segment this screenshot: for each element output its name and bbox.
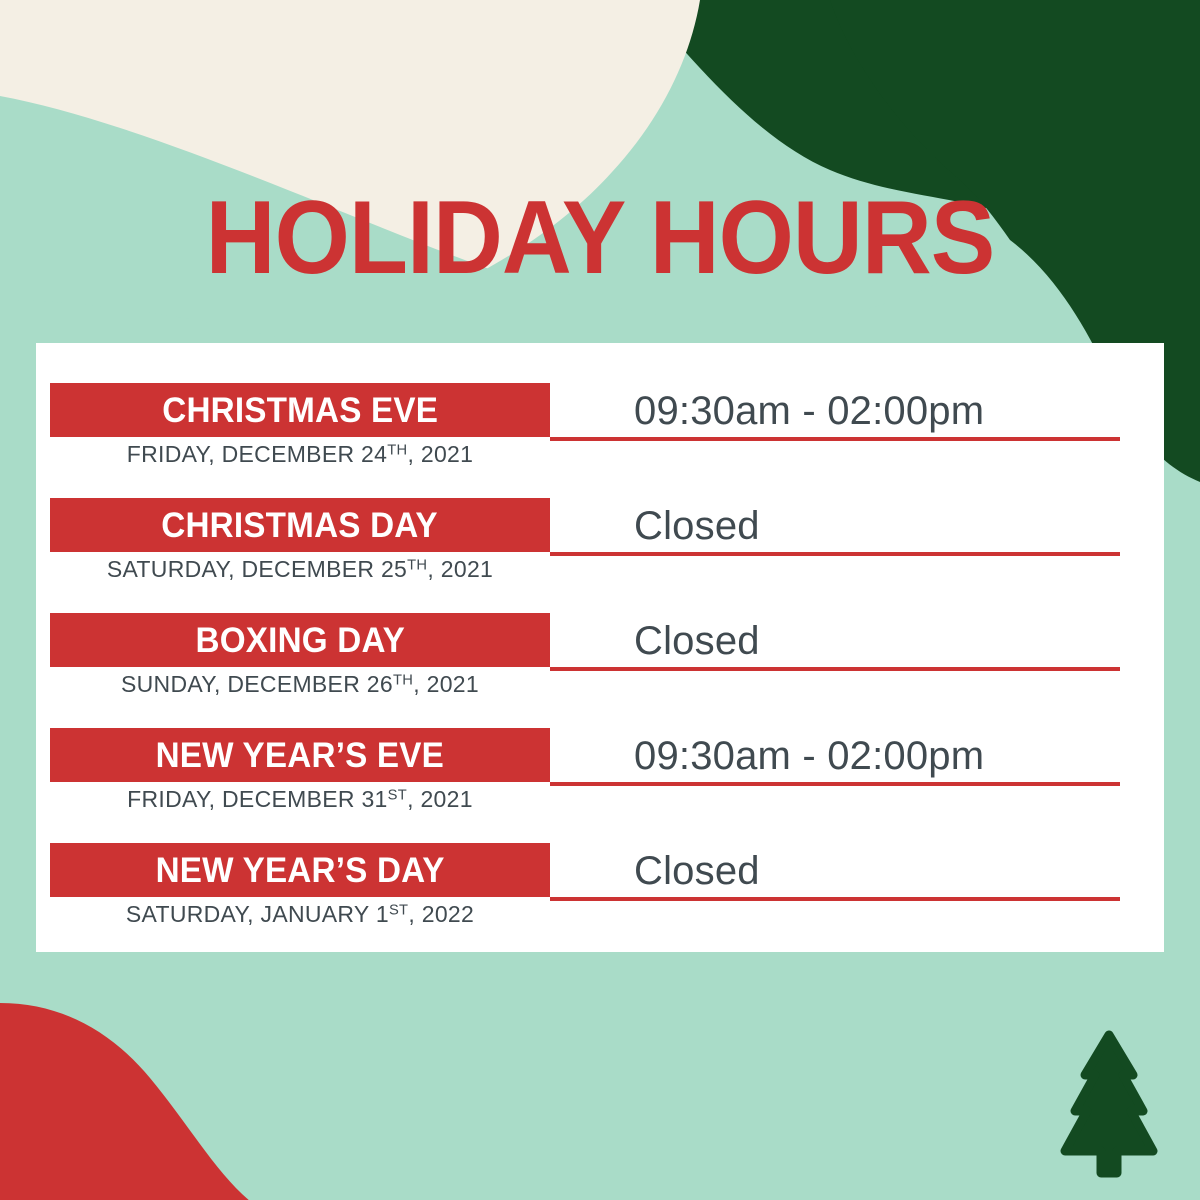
holiday-hours: 09:30am - 02:00pm (634, 734, 984, 779)
holiday-hours-cell: 09:30am - 02:00pm (550, 383, 1150, 439)
holiday-date-prefix: SUNDAY, DECEMBER 26 (121, 671, 393, 697)
holiday-hours: 09:30am - 02:00pm (634, 389, 984, 434)
row-underline (550, 782, 1120, 786)
holiday-date: SUNDAY, DECEMBER 26TH, 2021 (50, 671, 550, 698)
holiday-name-bar: BOXING DAY (50, 613, 550, 667)
christmas-tree-icon (1057, 1023, 1161, 1183)
table-row: CHRISTMAS DAY SATURDAY, DECEMBER 25TH, 2… (36, 498, 1164, 613)
holiday-date: FRIDAY, DECEMBER 24TH, 2021 (50, 441, 550, 468)
holiday-hours: Closed (634, 849, 760, 894)
holiday-date-ordinal: TH (387, 442, 407, 458)
holiday-name-bar: NEW YEAR’S EVE (50, 728, 550, 782)
holiday-hours-cell: Closed (550, 498, 1150, 554)
row-underline (550, 897, 1120, 901)
holiday-date-prefix: FRIDAY, DECEMBER 24 (127, 441, 387, 467)
holiday-date-suffix: , 2022 (408, 901, 474, 927)
holiday-name: CHRISTMAS EVE (162, 393, 438, 428)
schedule-card: CHRISTMAS EVE FRIDAY, DECEMBER 24TH, 202… (36, 343, 1164, 952)
holiday-hours: Closed (634, 619, 760, 664)
row-underline (550, 667, 1120, 671)
table-row: CHRISTMAS EVE FRIDAY, DECEMBER 24TH, 202… (36, 383, 1164, 498)
table-row: BOXING DAY SUNDAY, DECEMBER 26TH, 2021 C… (36, 613, 1164, 728)
holiday-hours-cell: Closed (550, 613, 1150, 669)
holiday-name-bar: CHRISTMAS DAY (50, 498, 550, 552)
holiday-date-prefix: SATURDAY, JANUARY 1 (126, 901, 389, 927)
holiday-hours: Closed (634, 504, 760, 549)
row-underline (550, 552, 1120, 556)
holiday-date-prefix: FRIDAY, DECEMBER 31 (127, 786, 387, 812)
holiday-date-suffix: , 2021 (413, 671, 479, 697)
holiday-name-bar: CHRISTMAS EVE (50, 383, 550, 437)
holiday-hours-poster: HOLIDAY HOURS CHRISTMAS EVE FRIDAY, DECE… (0, 0, 1200, 1200)
holiday-name: BOXING DAY (195, 623, 404, 658)
holiday-date-prefix: SATURDAY, DECEMBER 25 (107, 556, 407, 582)
holiday-date: FRIDAY, DECEMBER 31ST, 2021 (50, 786, 550, 813)
holiday-date: SATURDAY, JANUARY 1ST, 2022 (50, 901, 550, 928)
holiday-date-suffix: , 2021 (427, 556, 493, 582)
holiday-date-ordinal: ST (389, 902, 408, 918)
holiday-hours-cell: Closed (550, 843, 1150, 899)
holiday-name: NEW YEAR’S EVE (156, 738, 444, 773)
holiday-name: NEW YEAR’S DAY (155, 853, 444, 888)
holiday-date-ordinal: ST (388, 787, 407, 803)
holiday-name: CHRISTMAS DAY (162, 508, 439, 543)
holiday-name-bar: NEW YEAR’S DAY (50, 843, 550, 897)
holiday-date-suffix: , 2021 (407, 441, 473, 467)
table-row: NEW YEAR’S EVE FRIDAY, DECEMBER 31ST, 20… (36, 728, 1164, 843)
holiday-date-ordinal: TH (393, 672, 413, 688)
row-underline (550, 437, 1120, 441)
holiday-date-ordinal: TH (407, 557, 427, 573)
holiday-date-suffix: , 2021 (407, 786, 473, 812)
page-title: HOLIDAY HOURS (42, 186, 1158, 290)
holiday-hours-cell: 09:30am - 02:00pm (550, 728, 1150, 784)
holiday-date: SATURDAY, DECEMBER 25TH, 2021 (50, 556, 550, 583)
table-row: NEW YEAR’S DAY SATURDAY, JANUARY 1ST, 20… (36, 843, 1164, 958)
